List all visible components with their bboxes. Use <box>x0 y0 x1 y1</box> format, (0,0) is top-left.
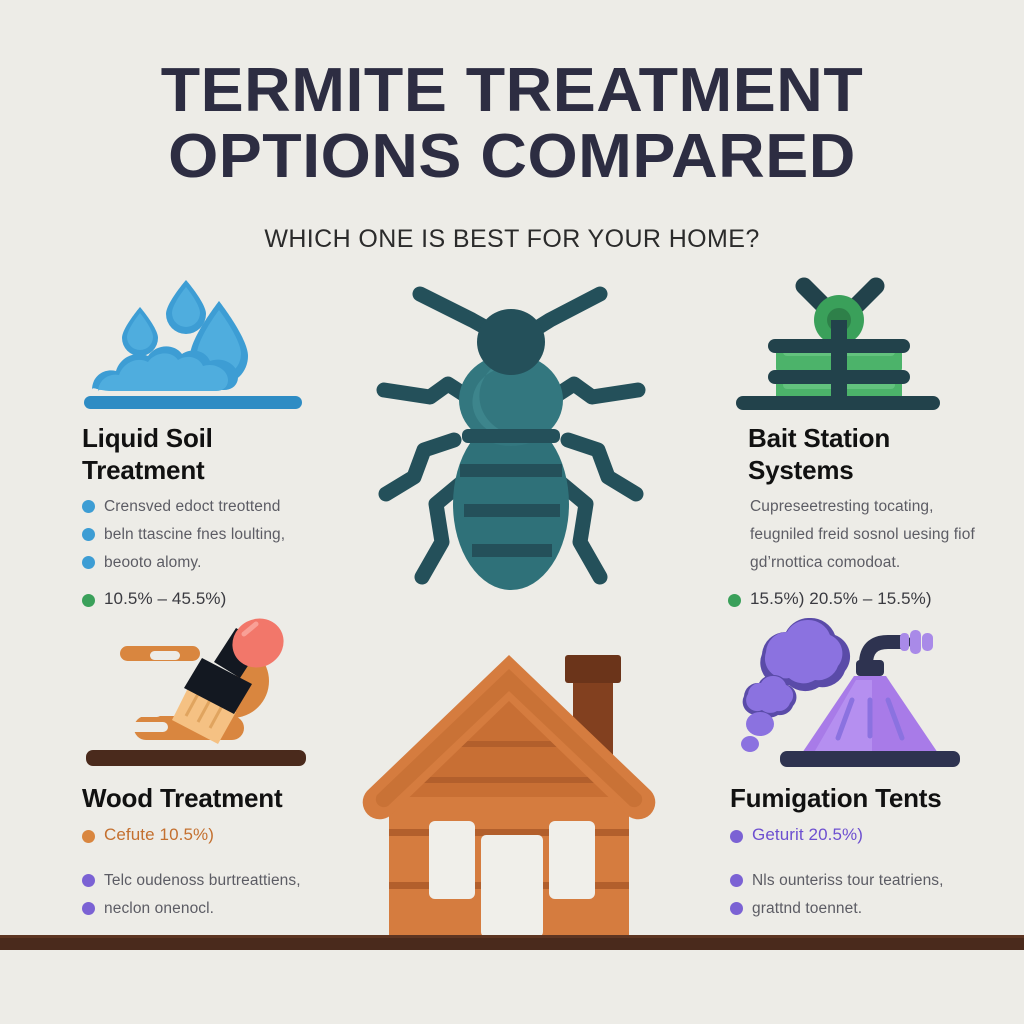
card-wood-treatment[interactable]: Wood Treatment Cefute 10.5%) Telc oudeno… <box>82 782 352 925</box>
bullet-text: beln ttascine fnes loulting, <box>104 523 285 546</box>
house-icon <box>345 625 685 943</box>
stat-text: 10.5% – 45.5%) <box>104 587 226 610</box>
stat-row: Geturit 20.5%) <box>730 823 1010 846</box>
stat-text: 15.5%) 20.5% – 15.5%) <box>750 587 932 610</box>
list-item: gd’rnottica comodoat. <box>728 551 1010 574</box>
list-item: Cupreseetresting tocating, <box>728 495 1010 518</box>
bullet-dot-icon <box>82 500 95 513</box>
list-item: Telc oudenoss burtreattiens, <box>82 869 352 892</box>
card-title-line-1: Liquid Soil <box>82 422 332 454</box>
fumigation-tent-icon <box>722 618 972 770</box>
bullet-text: neclon onenocl. <box>104 897 214 920</box>
bullet-text: beooto alomy. <box>104 551 202 574</box>
bullet-dot-icon <box>82 902 95 915</box>
paintbrush-wood-icon <box>76 618 316 768</box>
stat-row: 10.5% – 45.5%) <box>82 587 332 610</box>
bullet-dot-icon <box>82 556 95 569</box>
ground-bar-highlight <box>0 935 1024 938</box>
card-bullet-list: Cupreseetresting tocating, feugniled fre… <box>728 495 1010 610</box>
list-item: Crensved edoct treottend <box>82 495 332 518</box>
list-item: neclon onenocl. <box>82 897 352 920</box>
card-title-line-1: Wood Treatment <box>82 782 352 814</box>
card-bullet-list: Cefute 10.5%) Telc oudenoss burtreattien… <box>82 823 352 920</box>
bait-station-icon <box>728 272 948 410</box>
card-title: Bait Station Systems <box>748 422 1010 486</box>
bullet-dot-icon <box>730 830 743 843</box>
card-bullet-list: Geturit 20.5%) Nls ounteriss tour teatri… <box>730 823 1010 920</box>
stat-row: Cefute 10.5%) <box>82 823 352 846</box>
list-item: Nls ounteriss tour teatriens, <box>730 869 1010 892</box>
title-line-1: TERMITE TREATMENT <box>0 58 1024 124</box>
card-bait-station-systems[interactable]: Bait Station Systems Cupreseetresting to… <box>748 422 1010 615</box>
list-item: beooto alomy. <box>82 551 332 574</box>
bullet-text: Crensved edoct treottend <box>104 495 280 518</box>
bullet-dot-icon <box>82 874 95 887</box>
spacer <box>730 851 1010 869</box>
bullet-dot-icon <box>82 594 95 607</box>
card-title-line-1: Fumigation Tents <box>730 782 1010 814</box>
card-title-line-2: Systems <box>748 454 1010 486</box>
card-title-line-2: Treatment <box>82 454 332 486</box>
bullet-dot-icon <box>82 528 95 541</box>
bullet-text: Telc oudenoss burtreattiens, <box>104 869 301 892</box>
list-item: grattnd toennet. <box>730 897 1010 920</box>
stat-text: Geturit 20.5%) <box>752 823 863 846</box>
bullet-text: gd’rnottica comodoat. <box>750 551 900 574</box>
card-bullet-list: Crensved edoct treottend beln ttascine f… <box>82 495 332 610</box>
stat-text: Cefute 10.5%) <box>104 823 214 846</box>
bullet-dot-icon <box>730 902 743 915</box>
card-liquid-soil-treatment[interactable]: Liquid Soil Treatment Crensved edoct tre… <box>82 422 332 615</box>
card-title: Liquid Soil Treatment <box>82 422 332 486</box>
bullet-text: grattnd toennet. <box>752 897 862 920</box>
infographic-canvas: TERMITE TREATMENT OPTIONS COMPARED WHICH… <box>0 0 1024 1024</box>
bullet-text: feugniled freid sosnol uesing fiof <box>750 523 975 546</box>
spacer <box>82 851 352 869</box>
bullet-dot-icon <box>730 874 743 887</box>
card-title: Fumigation Tents <box>730 782 1010 814</box>
card-title: Wood Treatment <box>82 782 352 814</box>
bullet-text: Cupreseetresting tocating, <box>750 495 934 518</box>
page-title: TERMITE TREATMENT OPTIONS COMPARED <box>0 58 1024 190</box>
bullet-text: Nls ounteriss tour teatriens, <box>752 869 944 892</box>
water-droplets-icon <box>78 272 308 410</box>
bullet-dot-icon <box>82 830 95 843</box>
card-fumigation-tents[interactable]: Fumigation Tents Geturit 20.5%) Nls ount… <box>730 782 1010 925</box>
list-item: beln ttascine fnes loulting, <box>82 523 332 546</box>
list-item: feugniled freid sosnol uesing fiof <box>728 523 1010 546</box>
stat-row: 15.5%) 20.5% – 15.5%) <box>728 587 1010 610</box>
termite-icon <box>362 272 662 598</box>
card-title-line-1: Bait Station <box>748 422 1010 454</box>
title-line-2: OPTIONS COMPARED <box>0 124 1024 190</box>
page-subtitle: WHICH ONE IS BEST FOR YOUR HOME? <box>0 225 1024 254</box>
bullet-dot-icon <box>728 594 741 607</box>
